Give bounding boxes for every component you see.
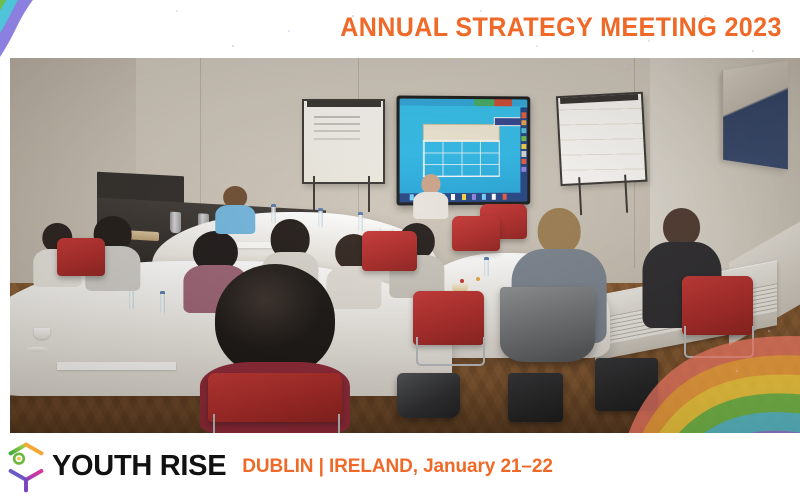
poster-canvas: ANNUAL STRATEGY MEETING 2023: [0, 0, 800, 500]
youth-rise-cube-logo-icon: [4, 441, 48, 493]
rainbow-wave-top-left-icon: [0, 0, 218, 152]
event-location-dates: DUBLIN | IRELAND, January 21–22: [242, 456, 553, 478]
footer-bar: YOUTH RISE DUBLIN | IRELAND, January 21–…: [0, 433, 800, 500]
brand-name: YOUTH RISE: [52, 450, 226, 483]
page-title: ANNUAL STRATEGY MEETING 2023: [340, 6, 782, 48]
